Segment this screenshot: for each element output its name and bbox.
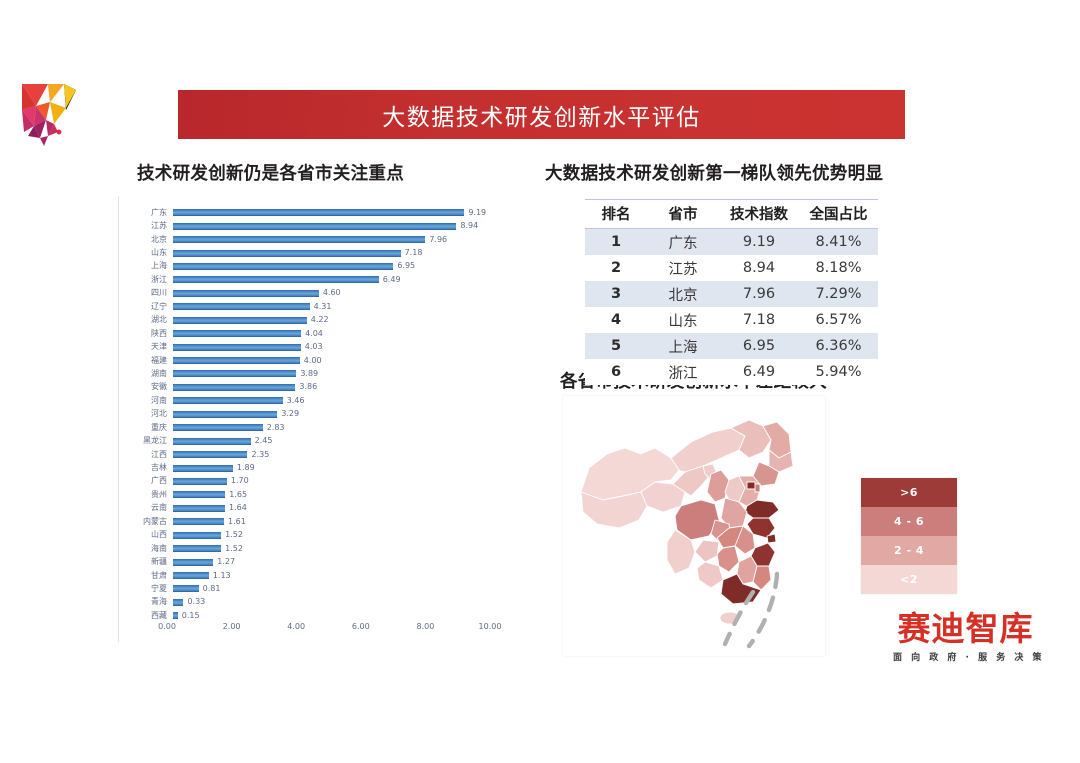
bar-row: 贵州1.65 bbox=[119, 488, 490, 501]
x-axis-tick-label: 0.00 bbox=[158, 622, 176, 631]
bar-fill bbox=[173, 317, 307, 324]
bar-track: 0.81 bbox=[173, 582, 490, 595]
x-axis-tick-label: 4.00 bbox=[287, 622, 305, 631]
legend-cell: 2 - 4 bbox=[861, 536, 957, 565]
bar-row: 海南1.52 bbox=[119, 542, 490, 555]
bar-fill bbox=[173, 478, 227, 485]
bar-fill bbox=[173, 599, 183, 606]
table-header-row: 排名 省市 技术指数 全国占比 bbox=[585, 200, 878, 229]
bar-value-label: 3.46 bbox=[287, 397, 305, 405]
bar-track: 6.49 bbox=[173, 273, 490, 286]
bar-track: 4.22 bbox=[173, 314, 490, 327]
bar-row: 湖北4.22 bbox=[119, 314, 490, 327]
bar-fill bbox=[173, 532, 221, 539]
bar-track: 1.13 bbox=[173, 569, 490, 582]
china-choropleth-map-icon bbox=[563, 396, 825, 656]
map-legend: >64 - 62 - 4<2 bbox=[861, 478, 957, 594]
bar-category-label: 黑龙江 bbox=[119, 437, 173, 445]
page-title: 大数据技术研发创新水平评估 bbox=[178, 98, 905, 132]
bar-track: 2.45 bbox=[173, 434, 490, 447]
bar-row: 河北3.29 bbox=[119, 408, 490, 421]
bar-value-label: 1.65 bbox=[229, 491, 247, 499]
bar-fill bbox=[173, 344, 301, 351]
bar-track: 2.35 bbox=[173, 448, 490, 461]
footer-brand: 赛迪智库 面 向 政 府 · 服 务 决 策 bbox=[893, 612, 1038, 663]
bar-value-label: 1.13 bbox=[213, 572, 231, 580]
bar-value-label: 3.29 bbox=[281, 410, 299, 418]
bar-fill bbox=[173, 397, 283, 404]
bar-track: 7.96 bbox=[173, 233, 490, 246]
table-row: 4山东7.186.57% bbox=[585, 307, 878, 333]
bar-track: 4.03 bbox=[173, 340, 490, 353]
bar-fill bbox=[173, 330, 301, 337]
national-share-cell: 6.36% bbox=[799, 333, 878, 359]
chart-plot-area: 广东9.19江苏8.94北京7.96山东7.18上海6.95浙江6.49四川4.… bbox=[119, 206, 490, 614]
province-cell: 浙江 bbox=[647, 359, 719, 385]
bar-track: 6.95 bbox=[173, 260, 490, 273]
bar-value-label: 3.89 bbox=[300, 370, 318, 378]
bar-row: 云南1.64 bbox=[119, 502, 490, 515]
province-cell: 江苏 bbox=[647, 255, 719, 281]
national-share-cell: 6.57% bbox=[799, 307, 878, 333]
bar-value-label: 3.86 bbox=[299, 383, 317, 391]
bar-row: 甘肃1.13 bbox=[119, 569, 490, 582]
bar-value-label: 4.00 bbox=[304, 357, 322, 365]
bar-track: 1.64 bbox=[173, 502, 490, 515]
bar-category-label: 福建 bbox=[119, 357, 173, 365]
bar-track: 1.52 bbox=[173, 542, 490, 555]
bar-value-label: 1.61 bbox=[228, 518, 246, 526]
bar-category-label: 湖南 bbox=[119, 370, 173, 378]
bar-row: 天津4.03 bbox=[119, 340, 490, 353]
bar-track: 1.61 bbox=[173, 515, 490, 528]
bar-fill bbox=[173, 465, 233, 472]
bar-category-label: 浙江 bbox=[119, 276, 173, 284]
bar-fill bbox=[173, 290, 319, 297]
bar-track: 1.27 bbox=[173, 555, 490, 568]
bar-fill bbox=[173, 263, 393, 270]
bar-row: 湖南3.89 bbox=[119, 367, 490, 380]
bar-track: 4.60 bbox=[173, 287, 490, 300]
rank-cell: 1 bbox=[585, 229, 647, 256]
bar-value-label: 1.70 bbox=[231, 477, 249, 485]
bar-row: 广东9.19 bbox=[119, 206, 490, 219]
bar-value-label: 1.89 bbox=[237, 464, 255, 472]
bar-category-label: 内蒙古 bbox=[119, 518, 173, 526]
rank-cell: 3 bbox=[585, 281, 647, 307]
x-axis-tick-label: 2.00 bbox=[223, 622, 241, 631]
bar-fill bbox=[173, 370, 296, 377]
top-provinces-table: 排名 省市 技术指数 全国占比 1广东9.198.41%2江苏8.948.18%… bbox=[585, 199, 878, 385]
bar-category-label: 新疆 bbox=[119, 558, 173, 566]
bar-fill bbox=[173, 236, 425, 243]
bar-row: 浙江6.49 bbox=[119, 273, 490, 286]
legend-cell: >6 bbox=[861, 478, 957, 507]
table-body: 1广东9.198.41%2江苏8.948.18%3北京7.967.29%4山东7… bbox=[585, 229, 878, 386]
bar-value-label: 8.94 bbox=[460, 222, 478, 230]
bar-row: 宁夏0.81 bbox=[119, 582, 490, 595]
rank-cell: 2 bbox=[585, 255, 647, 281]
bar-value-label: 0.81 bbox=[203, 585, 221, 593]
bar-fill bbox=[173, 572, 209, 579]
bar-category-label: 广东 bbox=[119, 209, 173, 217]
table-row: 2江苏8.948.18% bbox=[585, 255, 878, 281]
bar-row: 辽宁4.31 bbox=[119, 300, 490, 313]
bar-track: 4.31 bbox=[173, 300, 490, 313]
province-cell: 山东 bbox=[647, 307, 719, 333]
province-cell: 广东 bbox=[647, 229, 719, 256]
x-axis-tick-label: 10.00 bbox=[479, 622, 502, 631]
bar-value-label: 2.45 bbox=[255, 437, 273, 445]
bar-row: 四川4.60 bbox=[119, 287, 490, 300]
bar-value-label: 2.35 bbox=[251, 451, 269, 459]
bar-track: 3.29 bbox=[173, 408, 490, 421]
table-row: 5上海6.956.36% bbox=[585, 333, 878, 359]
bar-value-label: 0.33 bbox=[187, 598, 205, 606]
column-header-rank: 排名 bbox=[585, 200, 647, 229]
bar-row: 青海0.33 bbox=[119, 596, 490, 609]
rank-cell: 4 bbox=[585, 307, 647, 333]
footer-brand-name: 赛迪智库 bbox=[893, 612, 1038, 647]
bar-fill bbox=[173, 518, 224, 525]
bar-track: 3.89 bbox=[173, 367, 490, 380]
bar-category-label: 贵州 bbox=[119, 491, 173, 499]
bar-category-label: 北京 bbox=[119, 236, 173, 244]
bar-fill bbox=[173, 438, 251, 445]
tech-index-cell: 7.18 bbox=[719, 307, 799, 333]
bar-row: 新疆1.27 bbox=[119, 555, 490, 568]
bar-value-label: 9.19 bbox=[468, 209, 486, 217]
bar-fill bbox=[173, 357, 300, 364]
rank-cell: 5 bbox=[585, 333, 647, 359]
bar-value-label: 4.60 bbox=[323, 289, 341, 297]
bar-row: 河南3.46 bbox=[119, 394, 490, 407]
tech-index-cell: 9.19 bbox=[719, 229, 799, 256]
x-axis-tick-label: 6.00 bbox=[352, 622, 370, 631]
bar-row: 吉林1.89 bbox=[119, 461, 490, 474]
chart-x-axis: 0.002.004.006.008.0010.00 bbox=[167, 616, 490, 642]
bar-category-label: 上海 bbox=[119, 262, 173, 270]
bar-fill bbox=[173, 223, 456, 230]
chart-section-heading: 技术研发创新仍是各省市关注重点 bbox=[137, 160, 404, 185]
national-share-cell: 8.41% bbox=[799, 229, 878, 256]
bar-fill bbox=[173, 276, 379, 283]
bar-category-label: 江西 bbox=[119, 451, 173, 459]
bar-row: 北京7.96 bbox=[119, 233, 490, 246]
bar-value-label: 1.52 bbox=[225, 531, 243, 539]
bar-track: 2.83 bbox=[173, 421, 490, 434]
tech-index-cell: 8.94 bbox=[719, 255, 799, 281]
table-row: 6浙江6.495.94% bbox=[585, 359, 878, 385]
bar-value-label: 4.31 bbox=[314, 303, 332, 311]
rank-cell: 6 bbox=[585, 359, 647, 385]
bar-category-label: 云南 bbox=[119, 504, 173, 512]
tech-index-cell: 6.49 bbox=[719, 359, 799, 385]
bar-row: 安徽3.86 bbox=[119, 381, 490, 394]
bar-value-label: 4.04 bbox=[305, 330, 323, 338]
bar-track: 4.04 bbox=[173, 327, 490, 340]
bar-category-label: 四川 bbox=[119, 289, 173, 297]
china-map-card bbox=[563, 396, 825, 656]
bar-track: 4.00 bbox=[173, 354, 490, 367]
footer-brand-tagline: 面 向 政 府 · 服 务 决 策 bbox=[893, 650, 1038, 663]
page-banner: 大数据技术研发创新水平评估 bbox=[178, 90, 905, 139]
national-share-cell: 7.29% bbox=[799, 281, 878, 307]
bar-fill bbox=[173, 384, 295, 391]
bar-category-label: 天津 bbox=[119, 343, 173, 351]
bar-value-label: 7.18 bbox=[405, 249, 423, 257]
bar-fill bbox=[173, 411, 277, 418]
column-header-province: 省市 bbox=[647, 200, 719, 229]
table-row: 1广东9.198.41% bbox=[585, 229, 878, 256]
bar-row: 陕西4.04 bbox=[119, 327, 490, 340]
national-share-cell: 8.18% bbox=[799, 255, 878, 281]
bar-value-label: 1.52 bbox=[225, 545, 243, 553]
legend-cell: 4 - 6 bbox=[861, 507, 957, 536]
column-header-index: 技术指数 bbox=[719, 200, 799, 229]
bar-fill bbox=[173, 491, 225, 498]
bar-track: 1.89 bbox=[173, 461, 490, 474]
bar-track: 1.52 bbox=[173, 529, 490, 542]
bar-value-label: 2.83 bbox=[267, 424, 285, 432]
bar-category-label: 西藏 bbox=[119, 612, 173, 620]
bar-category-label: 海南 bbox=[119, 545, 173, 553]
bar-row: 上海6.95 bbox=[119, 260, 490, 273]
bar-track: 9.19 bbox=[173, 206, 490, 219]
bar-category-label: 青海 bbox=[119, 598, 173, 606]
table-section-heading: 大数据技术研发创新第一梯队领先优势明显 bbox=[545, 160, 883, 185]
bar-category-label: 河南 bbox=[119, 397, 173, 405]
bar-category-label: 河北 bbox=[119, 410, 173, 418]
bar-category-label: 甘肃 bbox=[119, 572, 173, 580]
bar-category-label: 江苏 bbox=[119, 222, 173, 230]
bar-value-label: 1.64 bbox=[229, 504, 247, 512]
bar-value-label: 4.22 bbox=[311, 316, 329, 324]
bar-fill bbox=[173, 585, 199, 592]
x-axis-tick-label: 8.00 bbox=[416, 622, 434, 631]
bar-category-label: 陕西 bbox=[119, 330, 173, 338]
bar-value-label: 1.27 bbox=[217, 558, 235, 566]
bar-track: 8.94 bbox=[173, 219, 490, 232]
province-cell: 北京 bbox=[647, 281, 719, 307]
brand-mark-logo bbox=[14, 80, 80, 152]
bar-row: 福建4.00 bbox=[119, 354, 490, 367]
column-header-share: 全国占比 bbox=[799, 200, 878, 229]
national-share-cell: 5.94% bbox=[799, 359, 878, 385]
bar-fill bbox=[173, 545, 221, 552]
bar-track: 3.86 bbox=[173, 381, 490, 394]
bar-row: 江苏8.94 bbox=[119, 219, 490, 232]
bar-category-label: 重庆 bbox=[119, 424, 173, 432]
bar-category-label: 广西 bbox=[119, 477, 173, 485]
province-tech-index-bar-chart: 广东9.19江苏8.94北京7.96山东7.18上海6.95浙江6.49四川4.… bbox=[118, 196, 490, 642]
bar-fill bbox=[173, 451, 247, 458]
bar-track: 0.33 bbox=[173, 596, 490, 609]
bar-fill bbox=[173, 424, 263, 431]
bar-value-label: 7.96 bbox=[429, 236, 447, 244]
bar-row: 黑龙江2.45 bbox=[119, 434, 490, 447]
table-row: 3北京7.967.29% bbox=[585, 281, 878, 307]
bar-category-label: 辽宁 bbox=[119, 303, 173, 311]
bar-value-label: 6.95 bbox=[397, 262, 415, 270]
tech-index-cell: 7.96 bbox=[719, 281, 799, 307]
bar-track: 7.18 bbox=[173, 246, 490, 259]
bar-track: 3.46 bbox=[173, 394, 490, 407]
bar-track: 1.65 bbox=[173, 488, 490, 501]
tech-index-cell: 6.95 bbox=[719, 333, 799, 359]
bar-category-label: 山东 bbox=[119, 249, 173, 257]
province-cell: 上海 bbox=[647, 333, 719, 359]
bar-category-label: 山西 bbox=[119, 531, 173, 539]
bar-category-label: 湖北 bbox=[119, 316, 173, 324]
bar-category-label: 安徽 bbox=[119, 383, 173, 391]
bar-row: 内蒙古1.61 bbox=[119, 515, 490, 528]
bar-fill bbox=[173, 303, 310, 310]
bar-fill bbox=[173, 559, 213, 566]
bar-row: 山东7.18 bbox=[119, 246, 490, 259]
bar-row: 重庆2.83 bbox=[119, 421, 490, 434]
bar-row: 江西2.35 bbox=[119, 448, 490, 461]
bar-value-label: 4.03 bbox=[305, 343, 323, 351]
bar-category-label: 吉林 bbox=[119, 464, 173, 472]
bar-track: 1.70 bbox=[173, 475, 490, 488]
bar-fill bbox=[173, 505, 225, 512]
bar-value-label: 6.49 bbox=[383, 276, 401, 284]
bar-fill bbox=[173, 209, 464, 216]
bar-fill bbox=[173, 250, 401, 257]
bar-category-label: 宁夏 bbox=[119, 585, 173, 593]
bar-row: 山西1.52 bbox=[119, 529, 490, 542]
bar-row: 广西1.70 bbox=[119, 475, 490, 488]
legend-cell: <2 bbox=[861, 565, 957, 594]
polygon-logo-icon bbox=[14, 80, 80, 152]
